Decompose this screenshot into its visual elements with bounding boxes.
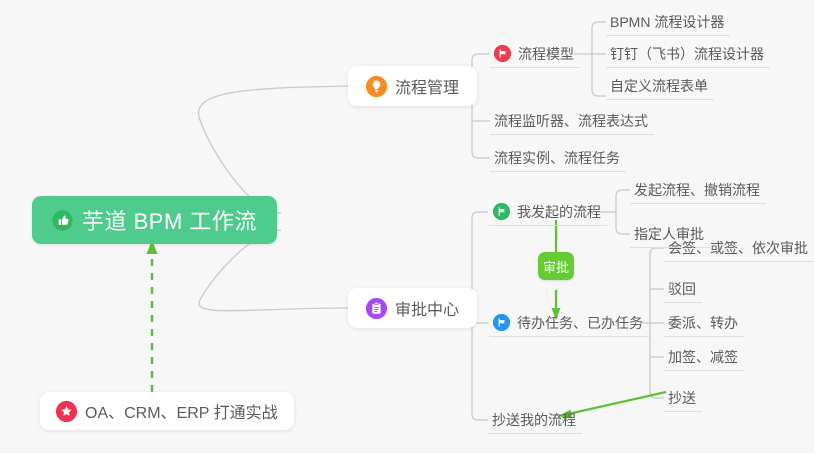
node-label: 抄送我的流程: [492, 410, 576, 430]
node-process-model[interactable]: 流程模型: [490, 40, 580, 68]
node-label: 钉钉（飞书）流程设计器: [610, 44, 764, 64]
edge-root-to-process-management: [199, 86, 348, 213]
corner-init-top: [616, 190, 622, 196]
node-label: 发起流程、撤销流程: [634, 180, 760, 200]
node-cc[interactable]: 抄送: [664, 384, 702, 412]
node-label: 驳回: [668, 279, 696, 299]
flag-blue-icon: [493, 314, 510, 331]
star-red-icon: [56, 401, 77, 422]
node-process-instance[interactable]: 流程实例、流程任务: [490, 144, 626, 172]
root-label: 芋道 BPM 工作流: [82, 204, 257, 236]
node-label: 流程实例、流程任务: [494, 148, 620, 168]
lightbulb-icon: [366, 76, 387, 97]
node-label: 流程监听器、流程表达式: [494, 111, 648, 131]
node-delegate-transfer[interactable]: 委派、转办: [664, 309, 744, 337]
node-reject[interactable]: 驳回: [664, 275, 702, 303]
node-add-remove-sign[interactable]: 加签、减签: [664, 343, 744, 371]
node-label: 会签、或签、依次审批: [668, 238, 808, 258]
card-integration-practice[interactable]: OA、CRM、ERP 打通实战: [40, 392, 294, 430]
corner-todo-top: [650, 248, 656, 254]
card-label: OA、CRM、ERP 打通实战: [85, 399, 278, 423]
corner-pm-top: [472, 54, 478, 60]
corner-ac-top: [472, 212, 478, 218]
node-label: 我发起的流程: [517, 202, 601, 222]
mindmap-canvas: 芋道 BPM 工作流 流程管理 流程模型 BPMN 流程设计器 钉钉（飞书）流程…: [0, 0, 814, 453]
node-label: 流程模型: [518, 44, 574, 64]
node-process-management[interactable]: 流程管理: [348, 66, 477, 106]
edge-badge-approval[interactable]: 审批: [538, 252, 574, 280]
corner-init-bottom: [616, 228, 622, 234]
node-start-cancel-process[interactable]: 发起流程、撤销流程: [630, 176, 766, 204]
edge-green-cc-to-ccmine: [568, 392, 666, 414]
root-node[interactable]: 芋道 BPM 工作流: [32, 196, 277, 244]
node-label: 委派、转办: [668, 313, 738, 333]
node-label: 加签、减签: [668, 347, 738, 367]
node-dingtalk-designer[interactable]: 钉钉（飞书）流程设计器: [606, 40, 770, 68]
corner-model-bottom: [592, 90, 598, 96]
node-label: 待办任务、已办任务: [517, 313, 643, 333]
node-process-listener[interactable]: 流程监听器、流程表达式: [490, 107, 654, 135]
node-label: BPMN 流程设计器: [610, 12, 724, 32]
flag-red-icon: [494, 45, 511, 62]
flag-green-icon: [493, 203, 510, 220]
corner-ac-bottom: [472, 414, 478, 420]
corner-model-top: [592, 22, 598, 28]
node-label: 抄送: [668, 388, 696, 408]
node-approval-center[interactable]: 审批中心: [348, 288, 477, 328]
node-my-initiated-process[interactable]: 我发起的流程: [489, 198, 607, 226]
node-cc-to-me-process[interactable]: 抄送我的流程: [488, 406, 582, 434]
node-bpmn-designer[interactable]: BPMN 流程设计器: [606, 8, 730, 36]
edge-badge-label: 审批: [543, 257, 569, 276]
thumbs-up-icon: [52, 210, 73, 231]
node-todo-done-tasks[interactable]: 待办任务、已办任务: [489, 309, 649, 337]
clipboard-icon: [366, 298, 387, 319]
node-countersign[interactable]: 会签、或签、依次审批: [664, 234, 814, 262]
corner-pm-bottom: [472, 152, 478, 158]
node-label: 流程管理: [395, 74, 459, 98]
node-label: 审批中心: [395, 296, 459, 320]
node-custom-form[interactable]: 自定义流程表单: [606, 72, 714, 100]
node-label: 自定义流程表单: [610, 76, 708, 96]
